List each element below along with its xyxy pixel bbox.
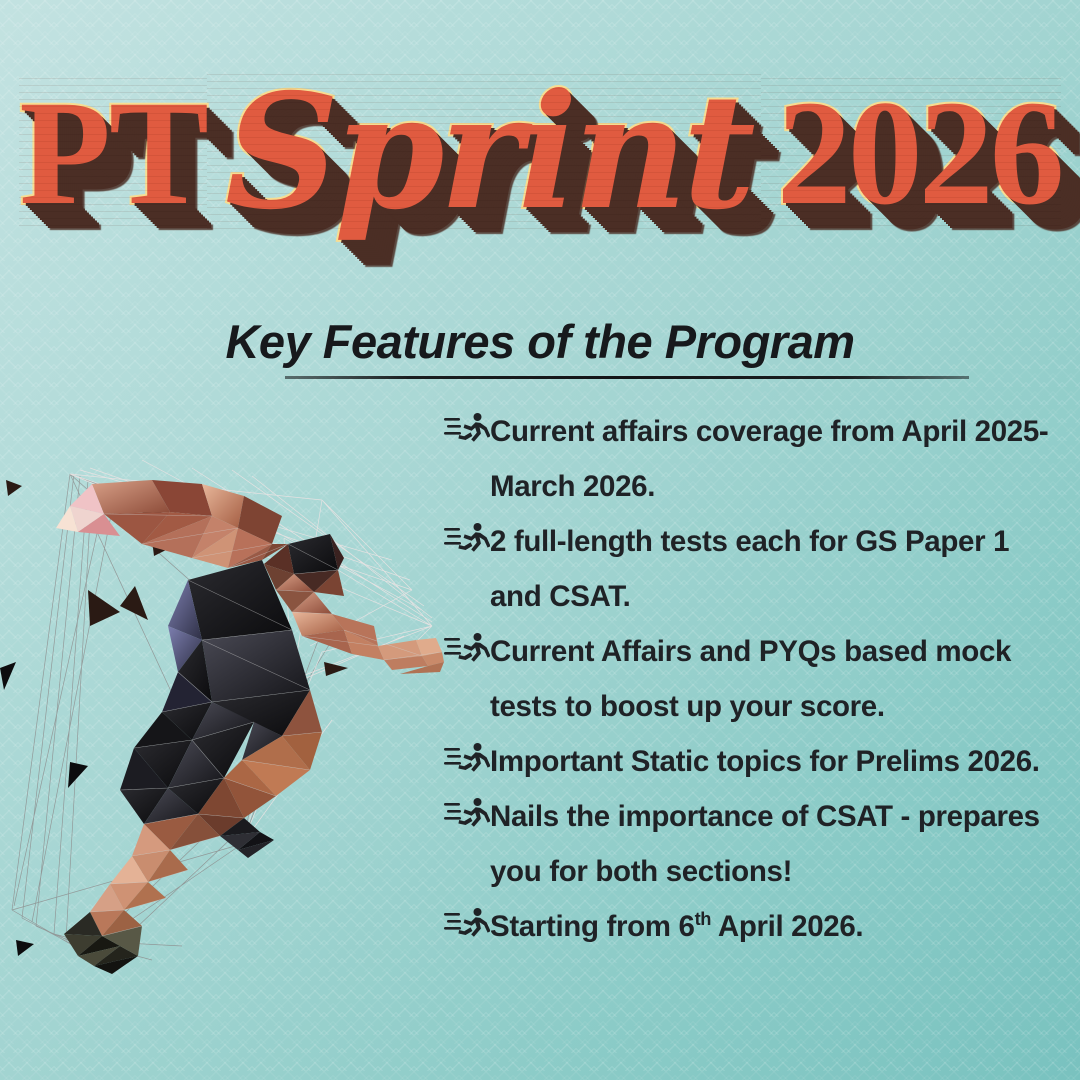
list-item: Current Affairs and PYQs based mock test…	[444, 624, 1064, 734]
list-item: Important Static topics for Prelims 2026…	[444, 734, 1064, 789]
list-item: Starting from 6th April 2026.	[444, 899, 1064, 954]
list-item: Nails the importance of CSAT - prepares …	[444, 789, 1064, 899]
list-item-text: Starting from 6th April 2026.	[490, 899, 1064, 954]
poster-title: PT Sprint 2026	[0, 48, 1080, 258]
list-item-text: Current affairs coverage from April 2025…	[490, 404, 1064, 514]
list-item-text: 2 full-length tests each for GS Paper 1 …	[490, 514, 1064, 624]
feature-list: Current affairs coverage from April 2025…	[444, 404, 1064, 954]
list-item-text: Important Static topics for Prelims 2026…	[490, 734, 1064, 789]
title-sprint-text: Sprint	[225, 60, 751, 245]
list-item: 2 full-length tests each for GS Paper 1 …	[444, 514, 1064, 624]
list-item-text-before: Starting from 6	[490, 910, 695, 943]
title-part-year: 2026	[761, 78, 1061, 228]
list-item-text: Nails the importance of CSAT - prepares …	[490, 789, 1064, 899]
low-poly-sprinter-illustration	[0, 440, 462, 1000]
title-part-pt: PT	[19, 78, 207, 228]
section-heading-divider	[285, 376, 969, 379]
title-part-sprint: Sprint	[207, 74, 761, 232]
list-item-superscript: th	[695, 908, 712, 929]
list-item-text-after: April 2026.	[711, 910, 863, 943]
poster-canvas: PT Sprint 2026 Key Features of the Progr…	[0, 0, 1080, 1080]
section-heading: Key Features of the Program	[0, 314, 1080, 369]
title-pt-text: PT	[19, 70, 207, 236]
list-item: Current affairs coverage from April 2025…	[444, 404, 1064, 514]
title-year-text: 2026	[777, 70, 1061, 236]
list-item-text: Current Affairs and PYQs based mock test…	[490, 624, 1064, 734]
section-heading-text: Key Features of the Program	[0, 314, 1080, 369]
